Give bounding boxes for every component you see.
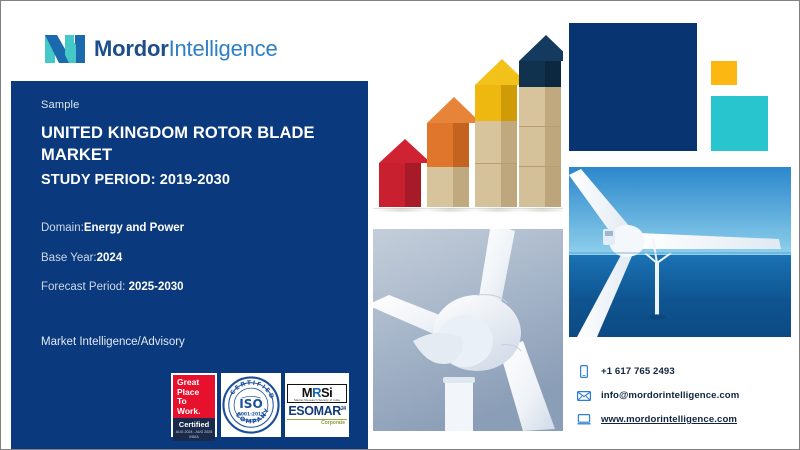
meta-label-base-year: Base Year: — [41, 252, 97, 264]
contact-phone-text: +1 617 765 2493 — [601, 366, 675, 377]
mrsi-logo: MRSi Market Research Society of India — [287, 384, 347, 403]
orange-wood-base — [427, 167, 469, 207]
house-block-navy — [519, 35, 561, 207]
navy-wood-base-lower — [519, 167, 561, 207]
wind-turbine-hub-closeup-image — [373, 229, 563, 431]
gptw-certified-label: Certified — [173, 418, 215, 430]
svg-text:9001:2015: 9001:2015 — [238, 412, 264, 418]
contact-details: +1 617 765 2493 info@mordorintelligence.… — [577, 365, 792, 437]
report-meta-list: Domain:Energy and Power Base Year:2024 F… — [41, 223, 341, 312]
study-period-text: STUDY PERIOD: 2019-2030 — [41, 172, 230, 188]
contact-row-phone[interactable]: +1 617 765 2493 — [577, 365, 792, 378]
certification-badges: Great Place To Work. Certified AUG 2024 … — [171, 373, 349, 437]
page-title: UNITED KINGDOM ROTOR BLADE MARKET — [41, 123, 351, 167]
offshore-turbine-graphic — [569, 167, 791, 337]
meta-row-domain: Domain:Energy and Power — [41, 223, 341, 235]
gptw-validity-label: AUG 2024 - AUG 2025 INDIA — [173, 430, 215, 441]
offshore-wind-farm-image — [569, 167, 791, 337]
yellow-wood-base-upper — [475, 121, 517, 164]
esomar-logo: ESOMAR24 Corporate — [287, 405, 347, 426]
monitor-icon — [577, 413, 591, 426]
navy-wood-base-mid — [519, 127, 561, 167]
gptw-red-block: Great Place To Work. — [173, 375, 215, 418]
mrsi-subtitle: Market Research Society of India — [290, 399, 344, 402]
navy-body — [519, 61, 561, 87]
amber-color-block — [711, 61, 737, 85]
wooden-block-houses-growth-chart-image — [373, 19, 563, 217]
gptw-line-4: Work. — [177, 407, 212, 417]
advisory-tagline: Market Intelligence/Advisory — [41, 336, 185, 348]
contact-website-text: www.mordorintelligence.com — [601, 414, 737, 425]
mordor-m-logo-icon — [45, 31, 85, 67]
esomar-superscript: 24 — [341, 406, 346, 412]
house-block-yellow — [475, 59, 517, 207]
turbine-hub-graphic — [373, 229, 563, 431]
cyan-color-block — [711, 96, 768, 151]
logo-wordmark: MordorIntelligence — [94, 38, 277, 60]
meta-row-forecast-period: Forecast Period: 2025-2030 — [41, 282, 341, 294]
iso-seal-icon: CERTIFIED COMPANY ISO 9001:2015 — [222, 376, 280, 434]
meta-value-forecast-period: 2025-2030 — [129, 281, 184, 293]
navy-color-block — [569, 23, 697, 151]
logo-word-mordor: Mordor — [94, 36, 169, 61]
red-house-shadow — [375, 207, 429, 213]
navy-house-shadow — [515, 207, 563, 213]
great-place-to-work-badge: Great Place To Work. Certified AUG 2024 … — [171, 373, 217, 437]
contact-row-email[interactable]: info@mordorintelligence.com — [577, 389, 792, 402]
meta-value-domain: Energy and Power — [84, 222, 184, 234]
envelope-icon — [577, 389, 591, 402]
meta-row-base-year: Base Year:2024 — [41, 253, 341, 265]
navy-roof — [519, 35, 563, 61]
esomar-corporate-label: Corporate — [287, 419, 347, 426]
orange-body — [427, 123, 469, 167]
orange-roof — [427, 97, 481, 123]
house-block-red — [379, 139, 421, 207]
esomar-wordmark: ESOMAR24 — [287, 405, 347, 418]
logo-word-intelligence: Intelligence — [169, 36, 278, 61]
red-roof — [379, 139, 431, 163]
navy-wood-base-upper — [519, 87, 561, 127]
iso-certified-badge: CERTIFIED COMPANY ISO 9001:2015 — [221, 373, 281, 437]
esomar-text: ESOMAR — [288, 404, 340, 418]
house-block-orange — [427, 97, 469, 207]
mrsi-esomar-badge: MRSi Market Research Society of India ES… — [285, 373, 349, 437]
sample-label: Sample — [41, 99, 80, 111]
svg-text:ISO: ISO — [239, 397, 262, 411]
yellow-body — [475, 85, 517, 121]
meta-value-base-year: 2024 — [97, 252, 123, 264]
contact-email-text: info@mordorintelligence.com — [601, 390, 739, 401]
contact-row-website[interactable]: www.mordorintelligence.com — [577, 413, 792, 426]
yellow-wood-base-lower — [475, 164, 517, 207]
meta-label-forecast-period: Forecast Period: — [41, 281, 129, 293]
red-body — [379, 163, 421, 207]
phone-icon — [577, 365, 591, 378]
meta-label-domain: Domain: — [41, 222, 84, 234]
report-info-panel: Sample UNITED KINGDOM ROTOR BLADE MARKET… — [11, 81, 368, 450]
mordor-intelligence-logo[interactable]: MordorIntelligence — [45, 31, 277, 67]
marketing-cover-page: MordorIntelligence Sample UNITED KINGDOM… — [0, 0, 800, 450]
orange-house-shadow — [423, 207, 477, 213]
